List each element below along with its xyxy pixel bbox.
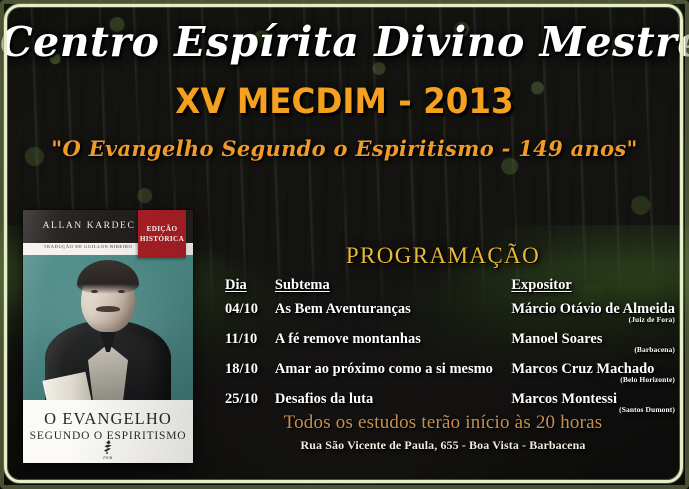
book-cover-artwork bbox=[23, 255, 193, 400]
program-table: Dia Subtema Expositor 04/10 As Bem Avent… bbox=[225, 277, 675, 421]
portrait-mustache bbox=[96, 306, 120, 312]
cell-expositor: Manoel Soares (Barbacena) bbox=[511, 331, 675, 361]
column-header-subtema: Subtema bbox=[275, 277, 511, 301]
schedule-note: Todos os estudos terão início às 20 hora… bbox=[208, 412, 678, 434]
book-bottom-band: O EVANGELHO SEGUNDO O ESPIRITISMO FEB bbox=[23, 400, 193, 463]
book-translator-credit: Tradução de Guillon Ribeiro bbox=[23, 244, 153, 249]
cell-dia: 11/10 bbox=[225, 331, 275, 361]
cell-expositor: Marcos Cruz Machado (Belo Horizonte) bbox=[511, 361, 675, 391]
badge-line-2: Histórica bbox=[140, 234, 184, 244]
badge-line-1: Edição bbox=[147, 224, 178, 234]
portrait-eye-right bbox=[118, 290, 125, 293]
event-subtitle: "O Evangelho Segundo o Espiritismo - 149… bbox=[0, 136, 689, 161]
cell-subtema: Amar ao próximo como a si mesmo bbox=[275, 361, 511, 391]
table-header-row: Dia Subtema Expositor bbox=[225, 277, 675, 301]
venue-address: Rua São Vicente de Paula, 655 - Boa Vist… bbox=[208, 438, 678, 453]
column-header-expositor: Expositor bbox=[511, 277, 675, 301]
historical-edition-badge: Edição Histórica bbox=[138, 210, 186, 258]
event-title: XV MECDIM - 2013 bbox=[24, 82, 665, 122]
program-heading: PROGRAMAÇÃO bbox=[208, 243, 678, 269]
expositor-city: (Belo Horizonte) bbox=[511, 376, 675, 384]
cell-subtema: A fé remove montanhas bbox=[275, 331, 511, 361]
portrait-eye-left bbox=[91, 290, 98, 293]
table-row: 04/10 As Bem Aventuranças Márcio Otávio … bbox=[225, 301, 675, 331]
feb-publisher-logo-icon: FEB bbox=[97, 440, 119, 460]
book-author-name: Allan Kardec bbox=[23, 221, 155, 231]
expositor-city: (Barbacena) bbox=[511, 346, 675, 354]
feb-logo-text: FEB bbox=[97, 455, 119, 460]
expositor-city: (Juiz de Fora) bbox=[511, 316, 675, 324]
portrait-hair bbox=[77, 260, 139, 294]
book-title-line-1: O EVANGELHO bbox=[23, 409, 193, 429]
table-row: 18/10 Amar ao próximo como a si mesmo Ma… bbox=[225, 361, 675, 391]
organization-title: Centro Espírita Divino Mestre bbox=[0, 18, 689, 66]
portrait-shirt bbox=[88, 344, 128, 400]
column-header-dia: Dia bbox=[225, 277, 275, 301]
event-poster: Centro Espírita Divino Mestre XV MECDIM … bbox=[0, 0, 689, 489]
cell-expositor: Márcio Otávio de Almeida (Juiz de Fora) bbox=[511, 301, 675, 331]
cell-subtema: As Bem Aventuranças bbox=[275, 301, 511, 331]
cell-dia: 04/10 bbox=[225, 301, 275, 331]
cell-dia: 18/10 bbox=[225, 361, 275, 391]
book-cover-image: Allan Kardec Tradução de Guillon Ribeiro… bbox=[23, 210, 193, 463]
allan-kardec-portrait bbox=[43, 256, 173, 400]
table-row: 11/10 A fé remove montanhas Manoel Soare… bbox=[225, 331, 675, 361]
feb-flame-icon bbox=[102, 440, 115, 454]
